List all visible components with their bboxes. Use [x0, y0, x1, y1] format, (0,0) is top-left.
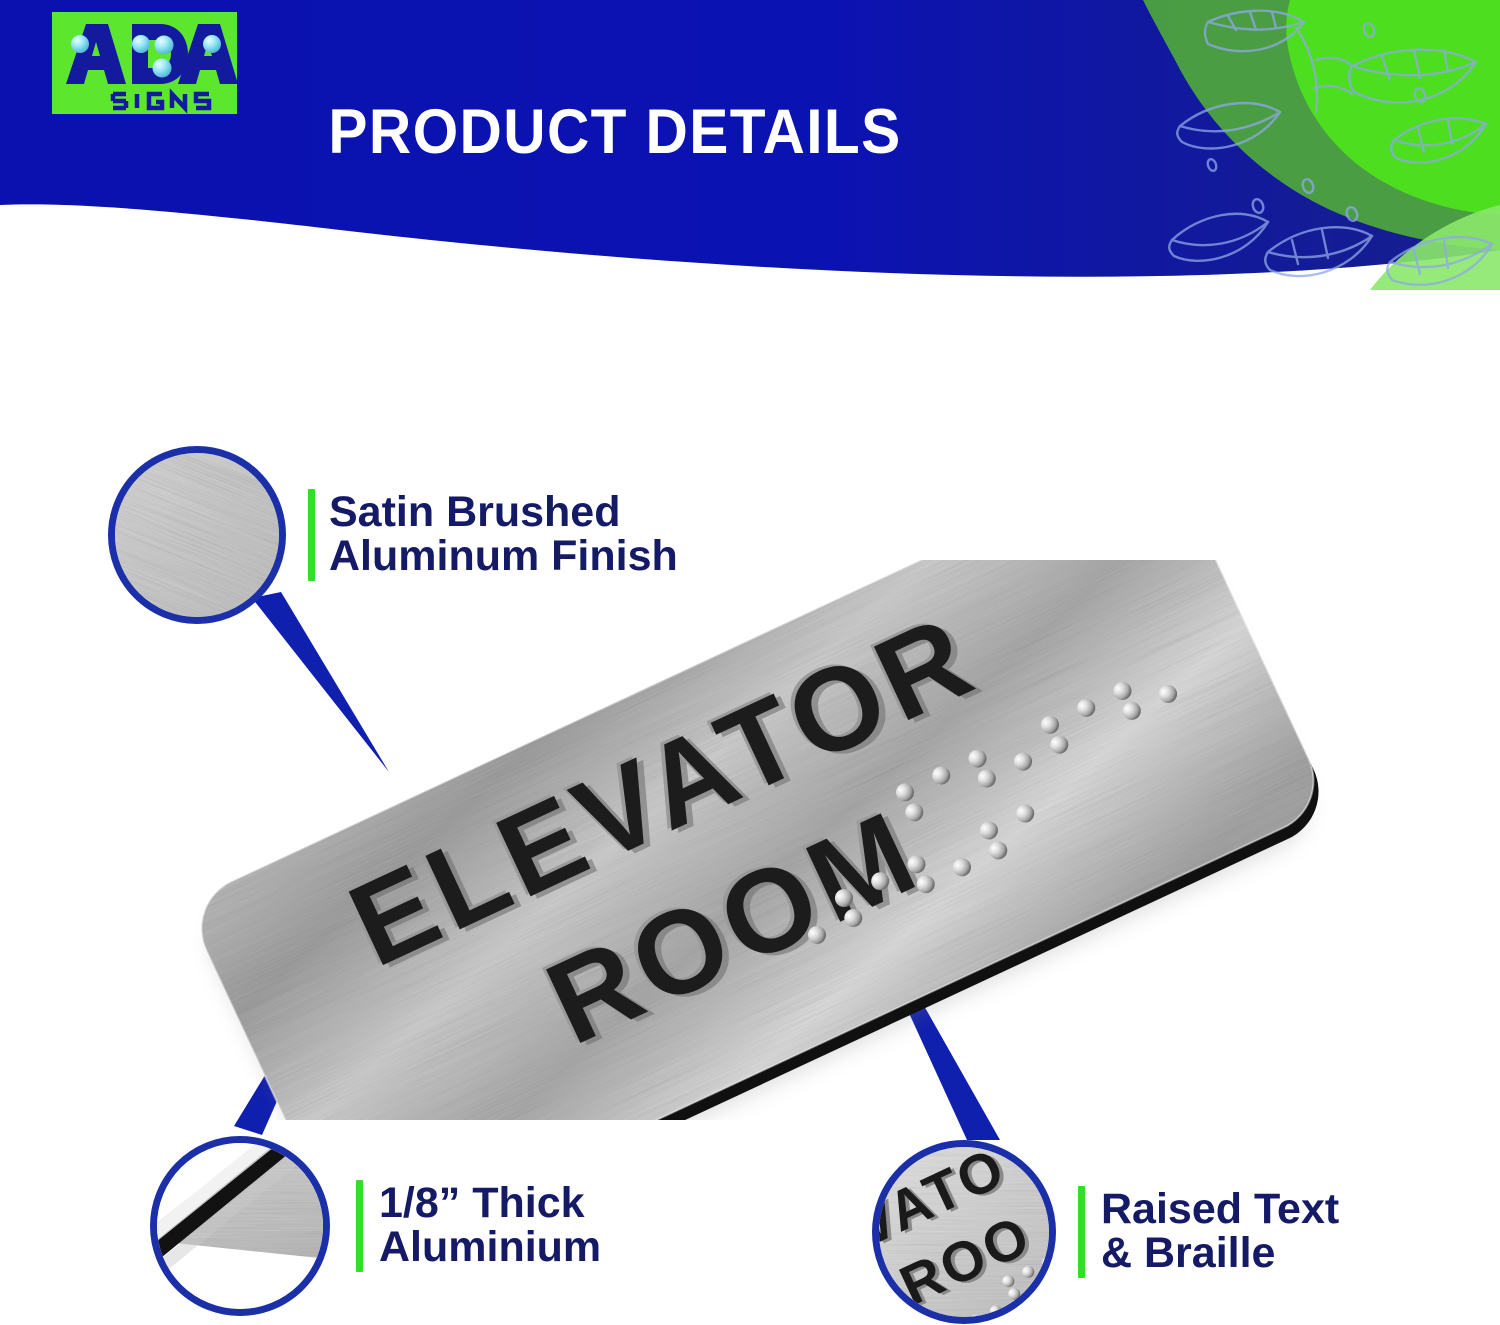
callout-separator — [356, 1180, 363, 1272]
sign-illustration: ELEVATOR ELEVATOR ELEVATOR ROOM ROOM ROO… — [160, 560, 1440, 1120]
callout-raised-line2: & Braille — [1101, 1232, 1339, 1276]
callout-finish-line2: Aluminum Finish — [329, 535, 678, 579]
callout-finish-line1: Satin Brushed — [329, 491, 678, 535]
raised-text-braille-closeup-icon: VATO VATO ROO ROO — [872, 1140, 1056, 1324]
brushed-aluminum-swatch-icon — [108, 446, 286, 624]
sign-plate: ELEVATOR ELEVATOR ELEVATOR ROOM ROOM ROO… — [184, 560, 1335, 1120]
callout-finish-label: Satin Brushed Aluminum Finish — [329, 491, 678, 579]
infographic-canvas: PRODUCT DETAILS — [0, 0, 1500, 1325]
callout-satin-brushed-finish: Satin Brushed Aluminum Finish — [108, 446, 678, 624]
callout-thickness: 1/8” Thick Aluminium — [150, 1136, 601, 1316]
callout-separator — [1078, 1186, 1085, 1278]
product-sign-image: ELEVATOR ELEVATOR ELEVATOR ROOM ROOM ROO… — [160, 560, 1440, 1120]
callout-raised-line1: Raised Text — [1101, 1188, 1339, 1232]
callout-separator — [308, 489, 315, 581]
sign-edge-profile-icon — [150, 1136, 330, 1316]
callout-thickness-line2: Aluminium — [379, 1226, 601, 1270]
callout-raised-label: Raised Text & Braille — [1101, 1188, 1339, 1276]
page-title: PRODUCT DETAILS — [43, 96, 1187, 168]
callout-thickness-line1: 1/8” Thick — [379, 1182, 601, 1226]
callout-raised-text-braille: VATO VATO ROO ROO — [872, 1140, 1339, 1324]
header-banner: PRODUCT DETAILS — [0, 0, 1500, 290]
callout-thickness-label: 1/8” Thick Aluminium — [379, 1182, 601, 1270]
